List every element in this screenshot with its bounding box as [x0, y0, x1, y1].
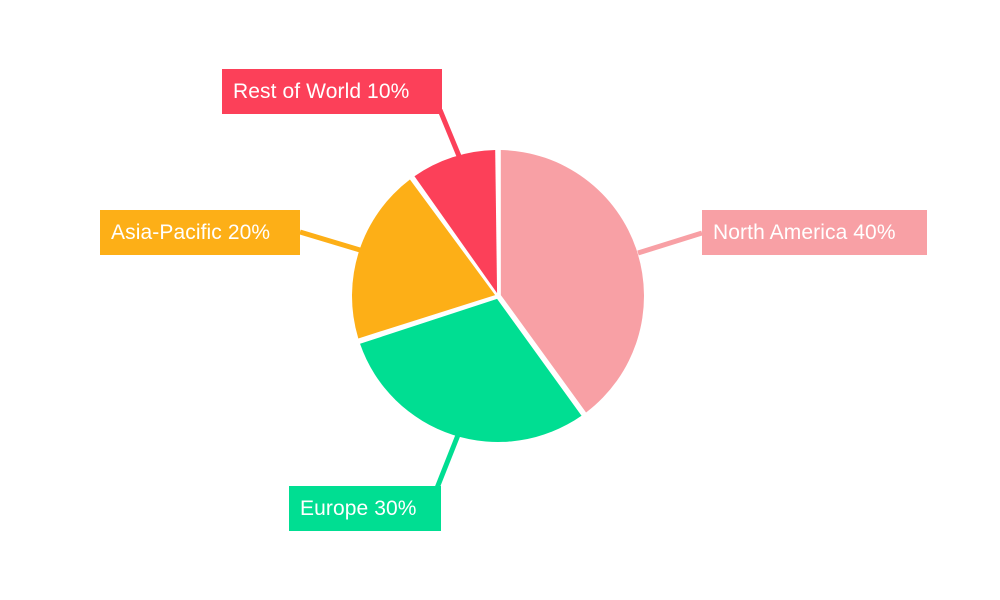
- pie-chart: North America 40% Rest of World 10% Asia…: [0, 0, 1000, 600]
- pie-label-north-america-text: North America 40%: [713, 222, 896, 243]
- pie-label-europe: Europe 30%: [289, 486, 441, 531]
- pie-chart-canvas: [0, 0, 1000, 600]
- pie-label-rest-of-world: Rest of World 10%: [222, 69, 442, 114]
- pie-label-asia-pacific: Asia-Pacific 20%: [100, 210, 300, 255]
- leader-line-north-america: [638, 233, 702, 253]
- pie-slices: [352, 150, 644, 442]
- pie-label-asia-pacific-text: Asia-Pacific 20%: [111, 222, 270, 243]
- pie-label-europe-text: Europe 30%: [300, 498, 417, 519]
- pie-label-north-america: North America 40%: [702, 210, 927, 255]
- pie-label-rest-of-world-text: Rest of World 10%: [233, 81, 409, 102]
- leader-line-europe: [437, 430, 460, 488]
